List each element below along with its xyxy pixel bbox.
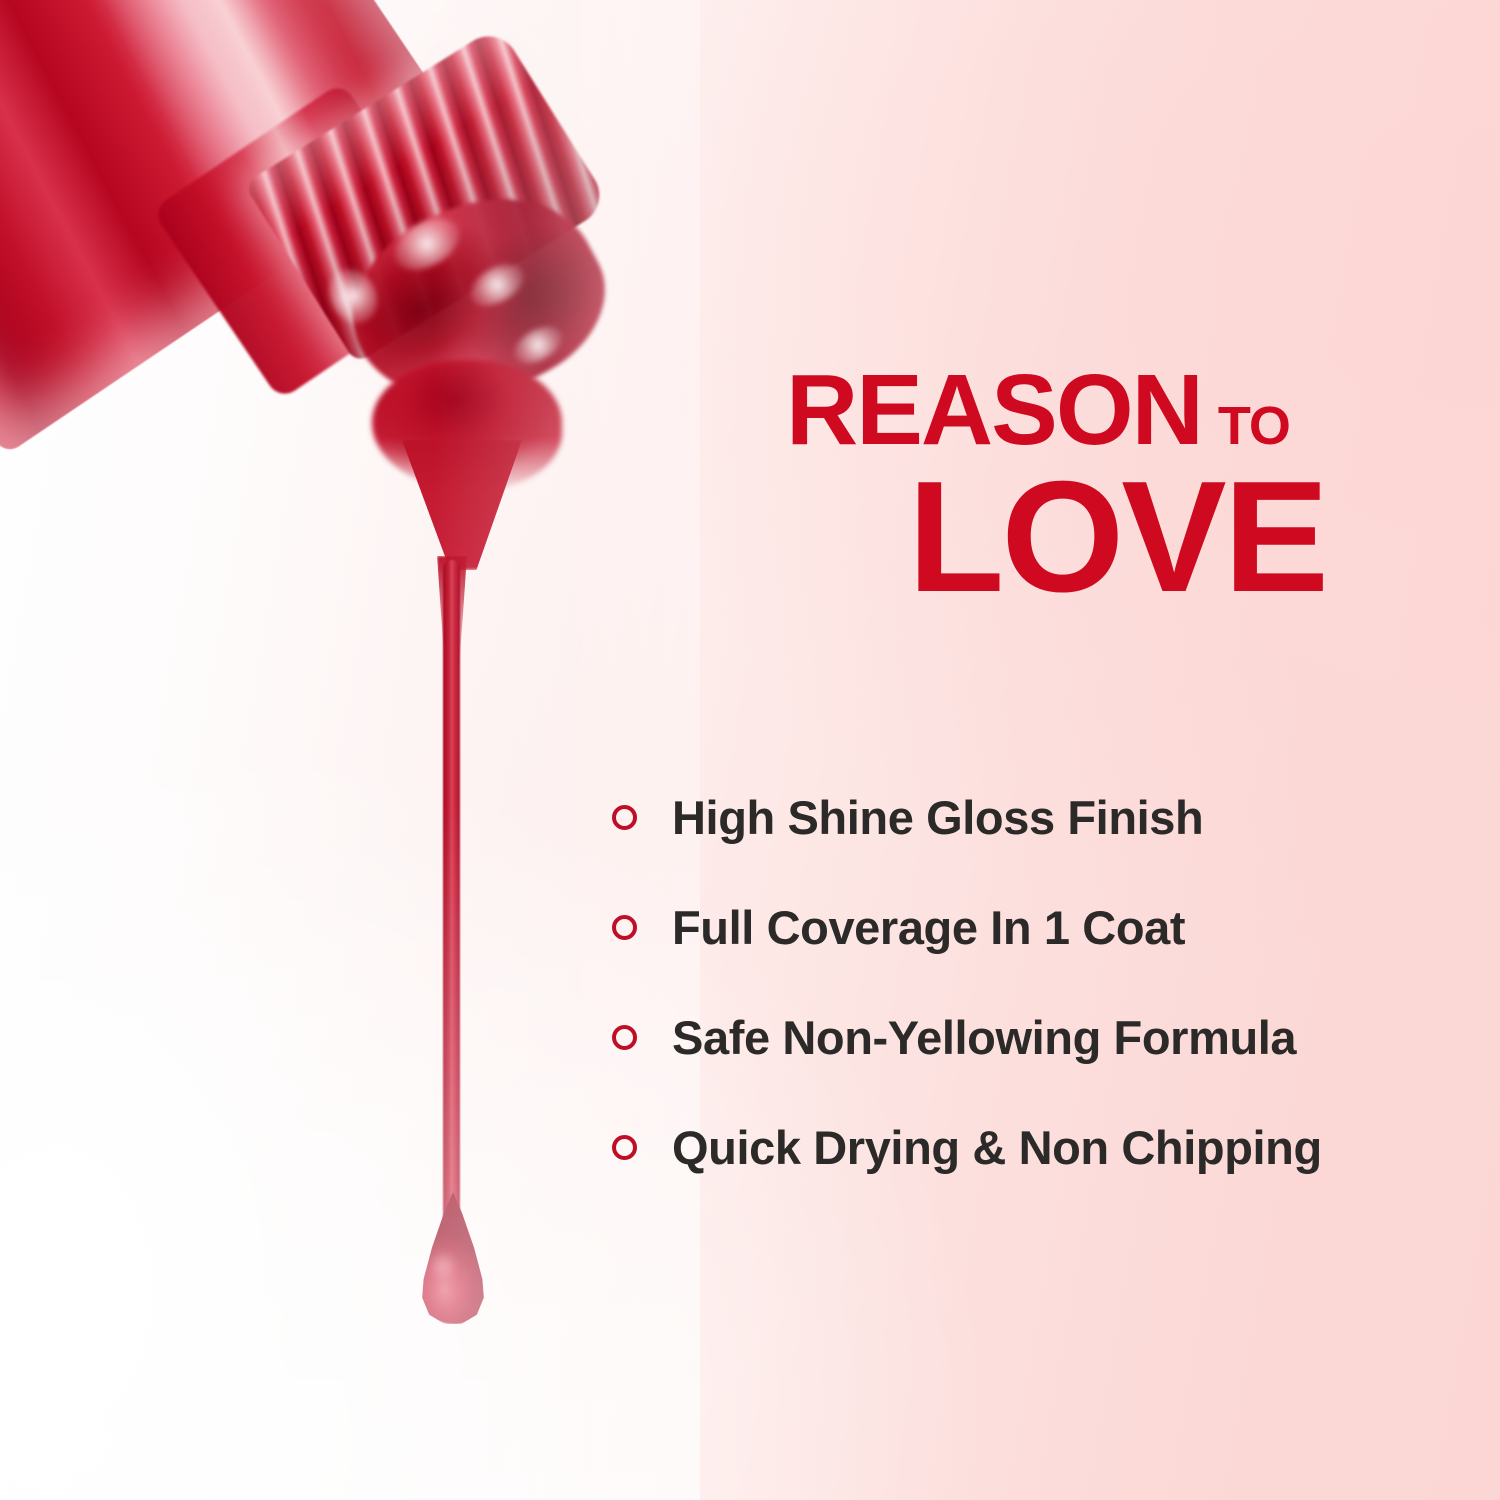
feature-label: Quick Drying & Non Chipping <box>672 1120 1322 1175</box>
page-title: REASON TO LOVE <box>786 360 1426 614</box>
product-feature-banner: REASON TO LOVE High Shine Gloss Finish F… <box>0 0 1500 1500</box>
polish-drip-funnel <box>402 440 522 570</box>
list-item: Quick Drying & Non Chipping <box>612 1092 1432 1202</box>
list-item: High Shine Gloss Finish <box>612 762 1432 872</box>
ring-bullet-icon <box>612 915 637 940</box>
droplet-gloss-highlight-icon <box>432 1246 454 1286</box>
headline-word-to: TO <box>1218 399 1290 453</box>
feature-list: High Shine Gloss Finish Full Coverage In… <box>612 762 1432 1202</box>
feature-label: Safe Non-Yellowing Formula <box>672 1010 1296 1065</box>
feature-label: High Shine Gloss Finish <box>672 790 1203 845</box>
list-item: Full Coverage In 1 Coat <box>612 872 1432 982</box>
ring-bullet-icon <box>612 805 637 830</box>
feature-label: Full Coverage In 1 Coat <box>672 900 1185 955</box>
polish-drip-stream <box>443 560 460 1240</box>
nail-polish-product-photo <box>0 0 700 1420</box>
list-item: Safe Non-Yellowing Formula <box>612 982 1432 1092</box>
ring-bullet-icon <box>612 1025 637 1050</box>
headline-line-1: REASON TO <box>786 360 1426 460</box>
headline-line-2: LOVE <box>786 462 1426 614</box>
headline-word-reason: REASON <box>786 360 1202 460</box>
ring-bullet-icon <box>612 1135 637 1160</box>
headline-word-love: LOVE <box>908 462 1326 614</box>
